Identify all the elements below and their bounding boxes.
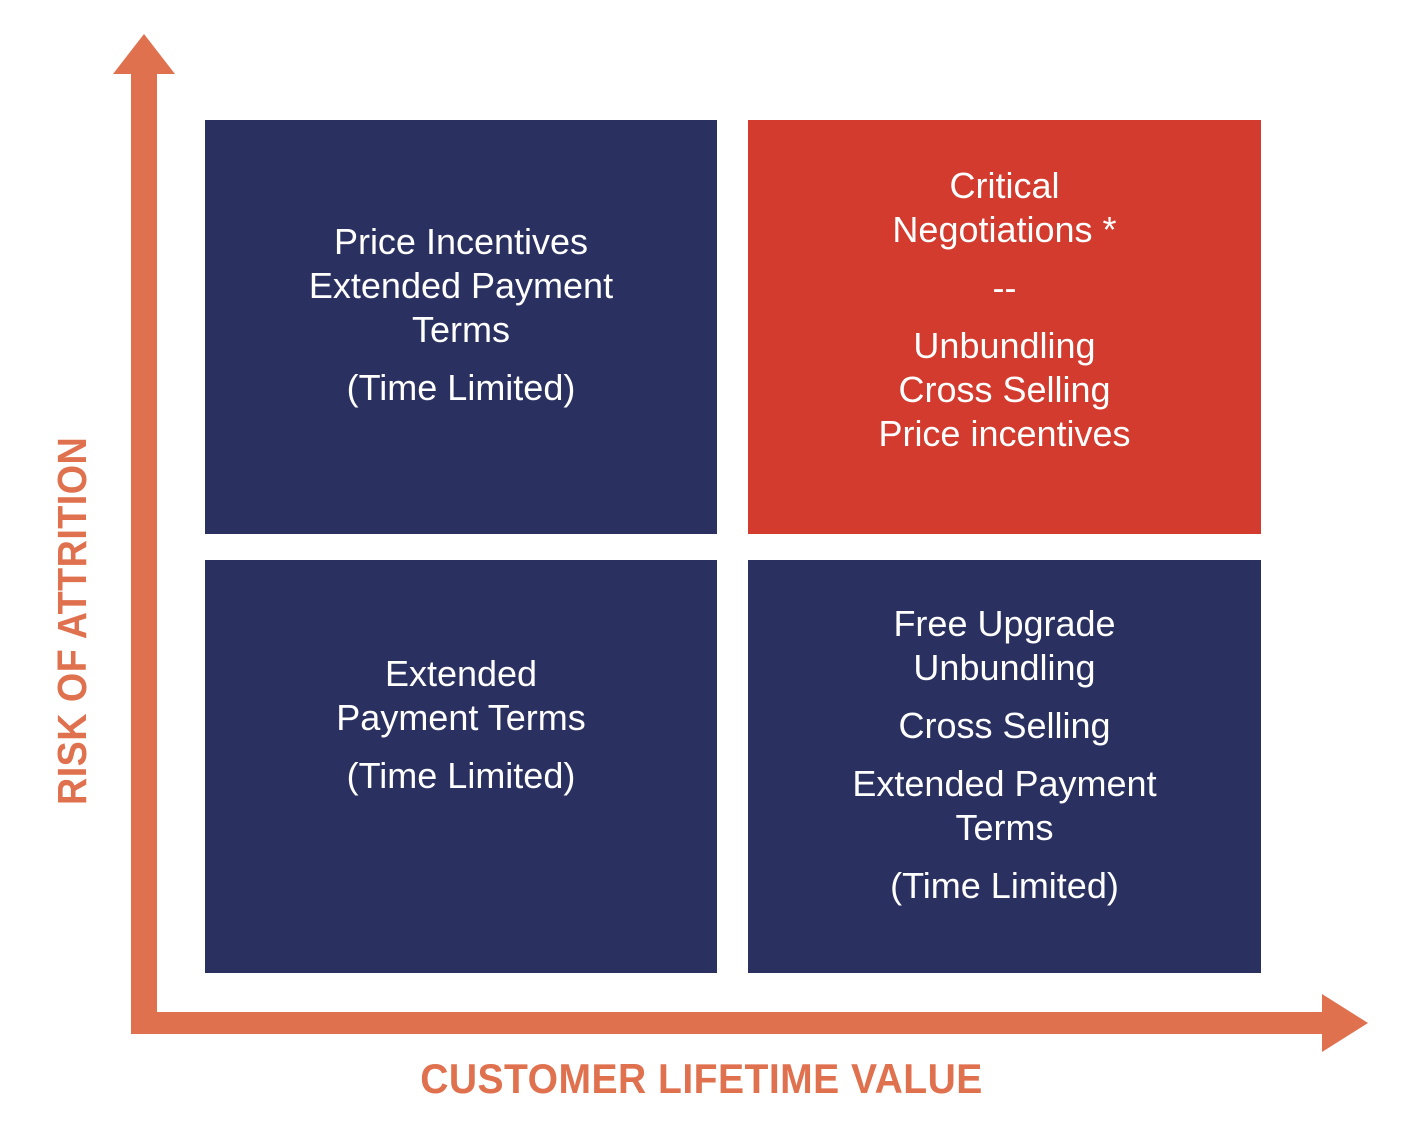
quadrant-text: Price IncentivesExtended PaymentTerms(Ti… [223,220,699,410]
quadrant-text-line: Negotiations * [762,208,1247,252]
quadrant-text-line: Unbundling [758,646,1251,690]
quadrant-text-line: (Time Limited) [758,864,1251,908]
arrow-up-icon [113,34,175,1034]
quadrant-text-line: Cross Selling [762,368,1247,412]
quadrant-text-line: (Time Limited) [223,366,699,410]
quadrant-text-line: Extended Payment [758,762,1251,806]
quadrant-text-line: Terms [758,806,1251,850]
quadrant-text-line: Extended Payment [223,264,699,308]
quadrant-top-left[interactable]: Price IncentivesExtended PaymentTerms(Ti… [205,120,717,534]
quadrant-text-line: Price incentives [762,412,1247,456]
quadrant-text-line: Free Upgrade [758,602,1251,646]
quadrant-top-right[interactable]: CriticalNegotiations *--UnbundlingCross … [748,120,1261,534]
quadrant-text-line: Payment Terms [223,696,699,740]
quadrant-text-line: Critical [762,164,1247,208]
quadrant-bottom-right[interactable]: Free UpgradeUnbundlingCross SellingExten… [748,560,1261,973]
quadrant-text-line: Extended [223,652,699,696]
quadrant-text: Free UpgradeUnbundlingCross SellingExten… [758,602,1251,907]
quadrant-text-line: Price Incentives [223,220,699,264]
quadrant-text: ExtendedPayment Terms(Time Limited) [223,652,699,798]
quadrant-text-line: Terms [223,308,699,352]
quadrant-text: CriticalNegotiations *--UnbundlingCross … [762,164,1247,455]
quadrant-text-line: Cross Selling [758,704,1251,748]
x-axis-label: CUSTOMER LIFETIME VALUE [49,1058,1354,1100]
arrow-right-icon [131,994,1368,1052]
quadrant-bottom-left[interactable]: ExtendedPayment Terms(Time Limited) [205,560,717,973]
quadrant-text-line: (Time Limited) [223,754,699,798]
matrix-diagram-canvas: RISK OF ATTRITION CUSTOMER LIFETIME VALU… [0,0,1403,1148]
quadrant-text-line: Unbundling [762,324,1247,368]
quadrant-text-line: -- [762,266,1247,310]
y-axis-label: RISK OF ATTRITION [52,437,93,805]
